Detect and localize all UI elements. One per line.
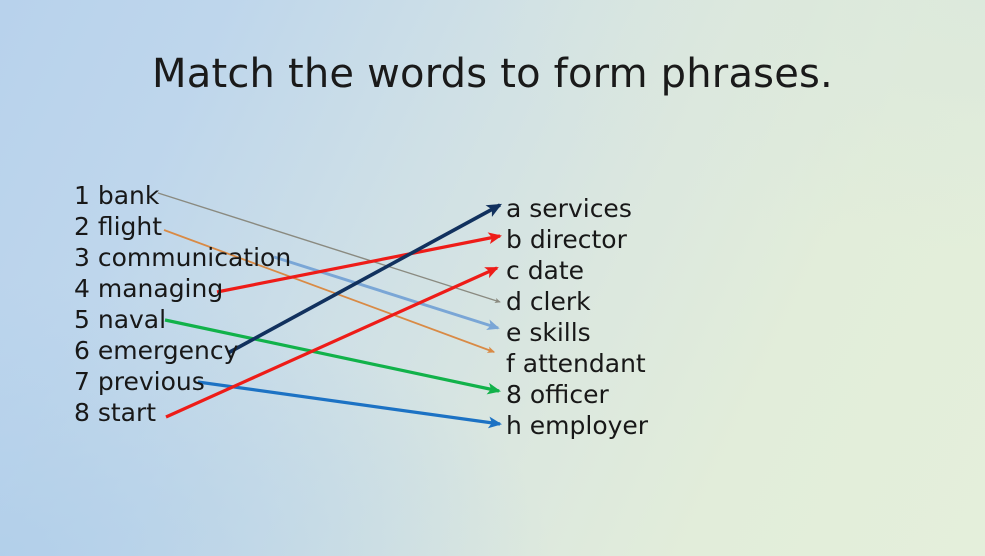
left-item-7[interactable]: 7 previous <box>74 366 291 397</box>
right-item-f[interactable]: f attendant <box>506 348 648 379</box>
right-item-e[interactable]: e skills <box>506 317 648 348</box>
page-title: Match the words to form phrases. <box>0 52 985 96</box>
left-item-4[interactable]: 4 managing <box>74 273 291 304</box>
right-item-d[interactable]: d clerk <box>506 286 648 317</box>
left-item-8[interactable]: 8 start <box>74 397 291 428</box>
right-item-h[interactable]: h employer <box>506 410 648 441</box>
left-item-3[interactable]: 3 communication <box>74 242 291 273</box>
left-item-1[interactable]: 1 bank <box>74 180 291 211</box>
right-word-column: a services b director c date d clerk e s… <box>506 193 648 441</box>
left-item-6[interactable]: 6 emergency <box>74 335 291 366</box>
right-item-a[interactable]: a services <box>506 193 648 224</box>
left-item-2[interactable]: 2 flight <box>74 211 291 242</box>
connection-line <box>274 257 498 328</box>
left-word-column: 1 bank 2 flight 3 communication 4 managi… <box>74 180 291 428</box>
right-item-b[interactable]: b director <box>506 224 648 255</box>
slide-canvas: Match the words to form phrases. 1 bank … <box>0 0 985 556</box>
right-item-c[interactable]: c date <box>506 255 648 286</box>
right-item-g[interactable]: 8 officer <box>506 379 648 410</box>
left-item-5[interactable]: 5 naval <box>74 304 291 335</box>
